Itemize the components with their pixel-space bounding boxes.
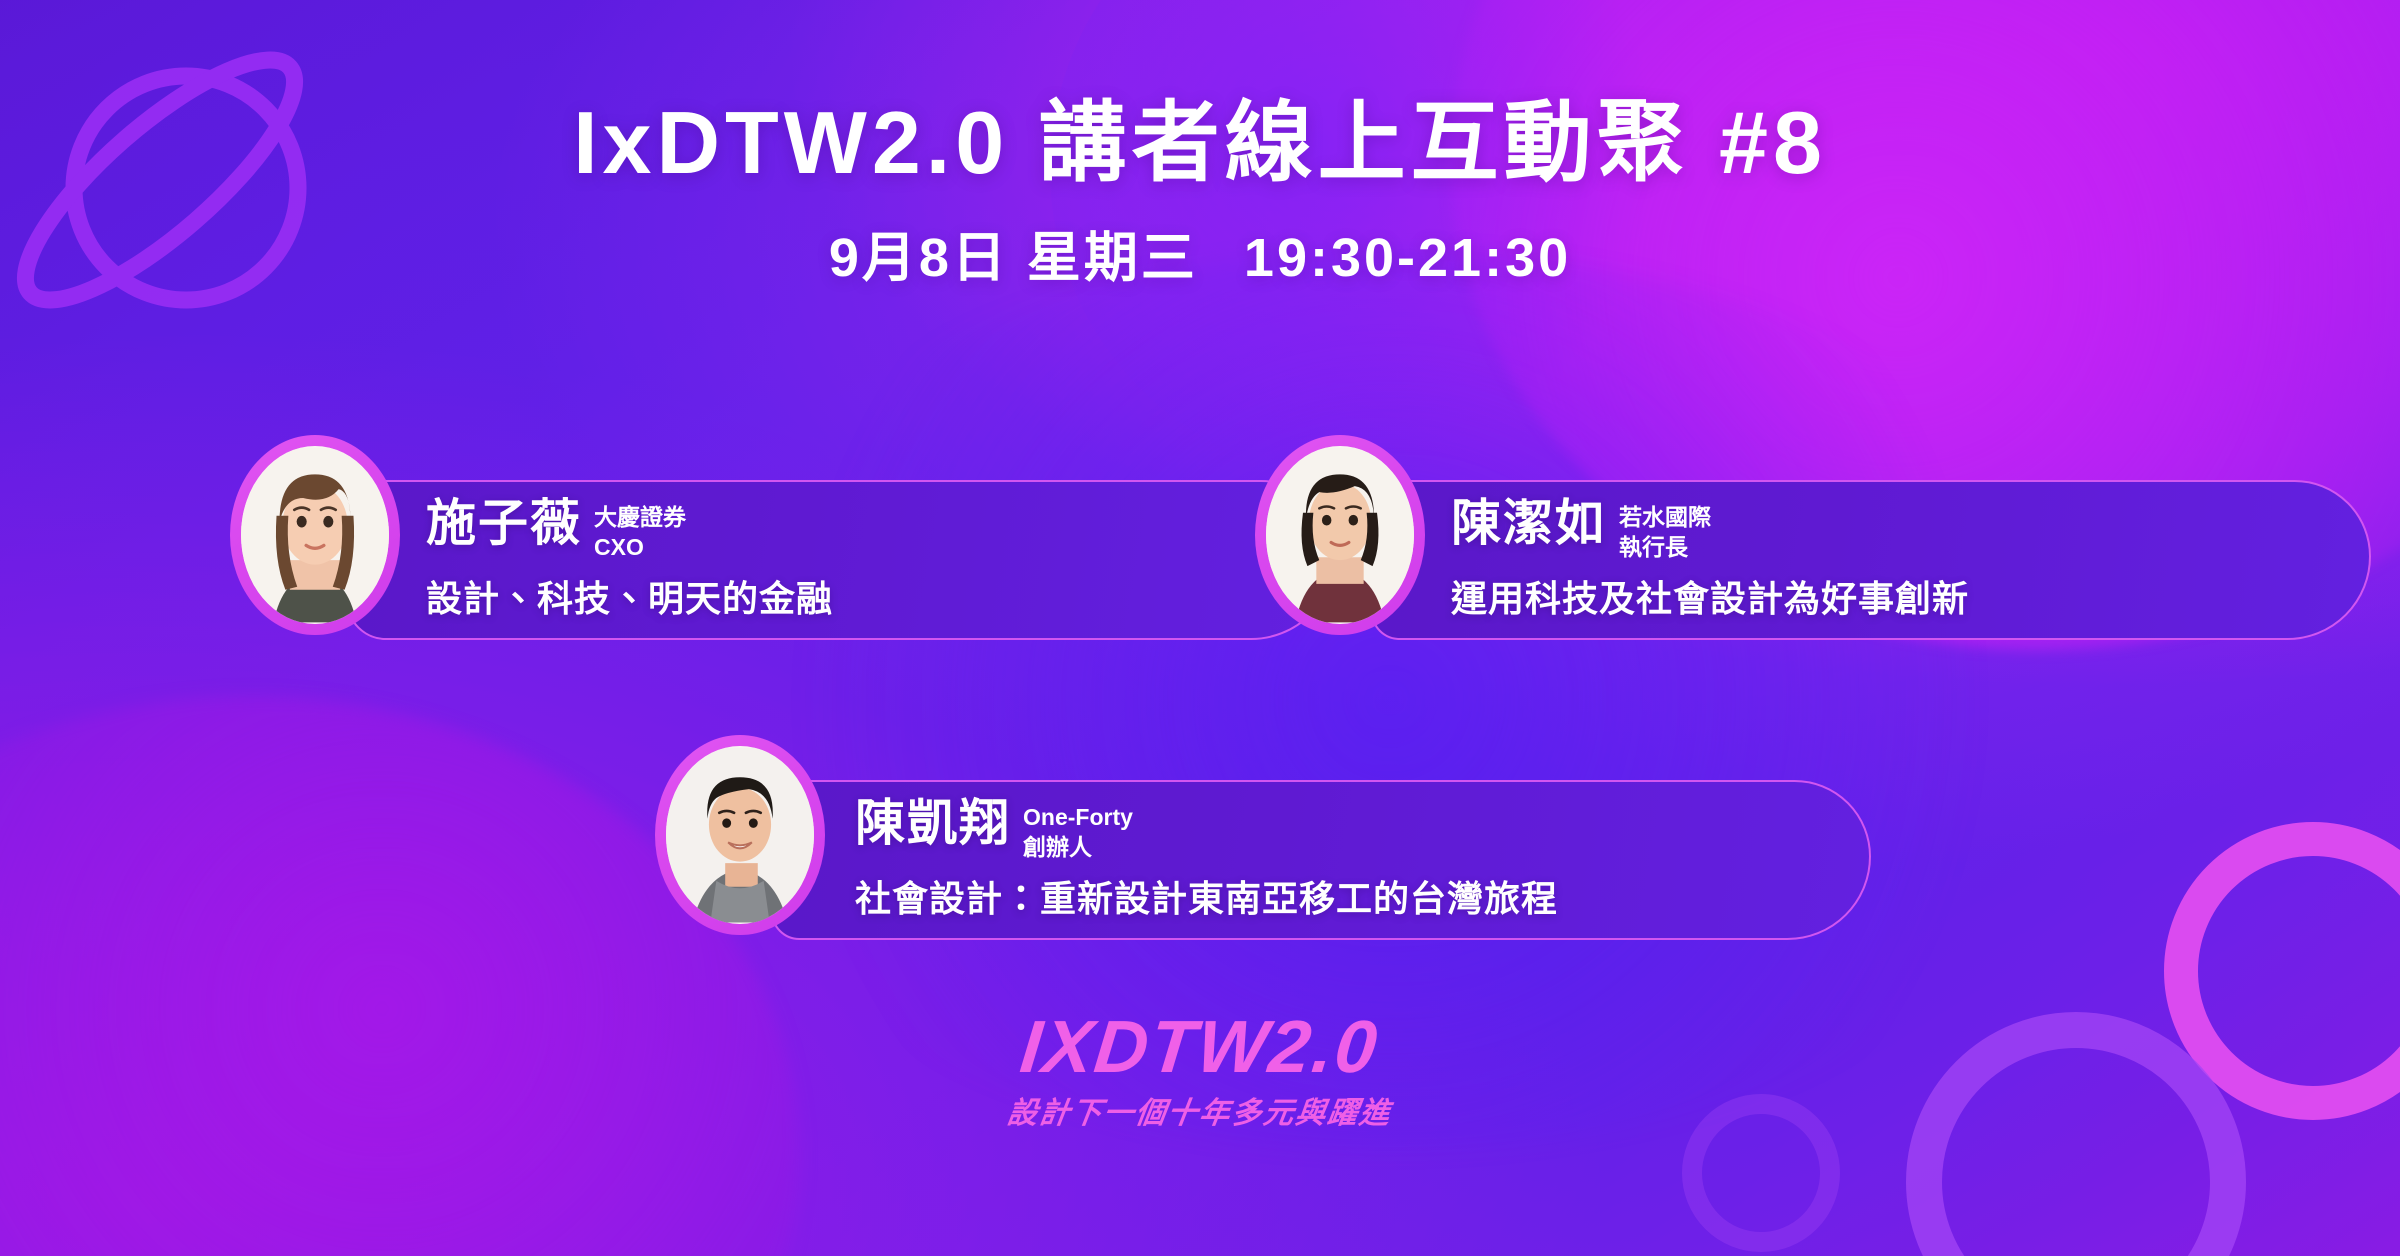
speaker-info: 陳凱翔 One-Forty 創辦人 社會設計：重新設計東南亞移工的台灣旅程 [855, 780, 1558, 940]
speaker-name-row: 陳凱翔 One-Forty 創辦人 [855, 798, 1558, 863]
event-poster: IxDTW2.0 講者線上互動聚 #8 9月8日 星期三19:30-21:30 [0, 0, 2400, 1256]
event-date: 9月8日 星期三 [829, 228, 1198, 288]
speaker-meta: 若水國際 執行長 [1619, 498, 1711, 563]
avatar-photo [666, 746, 814, 924]
avatar-photo [1266, 446, 1414, 624]
speaker-meta: One-Forty 創辦人 [1023, 798, 1133, 863]
speaker-topic: 社會設計：重新設計東南亞移工的台灣旅程 [855, 870, 1558, 922]
page-title: IxDTW2.0 講者線上互動聚 #8 [0, 96, 2400, 189]
speaker-org: 若水國際 [1619, 502, 1711, 532]
speaker-name: 施子薇 [426, 498, 582, 549]
speaker-role: CXO [594, 532, 686, 562]
header-block: IxDTW2.0 講者線上互動聚 #8 9月8日 星期三19:30-21:30 [0, 96, 2400, 292]
speaker-name-row: 施子薇 大慶證券 CXO [426, 498, 833, 563]
speaker-avatar-shih-tzu-wei [230, 435, 400, 635]
speaker-topic: 運用科技及社會設計為好事創新 [1451, 570, 1969, 622]
speaker-avatar-chen-kai-hsiang [655, 735, 825, 935]
event-datetime: 9月8日 星期三19:30-21:30 [0, 213, 2400, 292]
brand-logo: IXDTW2.0 設計下一個十年多元與躍進 [0, 1010, 2400, 1132]
speaker-name: 陳凱翔 [855, 798, 1011, 849]
speaker-role: 執行長 [1619, 532, 1711, 562]
speaker-meta: 大慶證券 CXO [594, 498, 686, 563]
speaker-avatar-chen-chieh-ju [1255, 435, 1425, 635]
speaker-org: One-Forty [1023, 802, 1133, 832]
speaker-topic: 設計、科技、明天的金融 [426, 570, 833, 622]
speaker-name-row: 陳潔如 若水國際 執行長 [1451, 498, 1969, 563]
speaker-name: 陳潔如 [1451, 498, 1607, 549]
logo-wordmark: IXDTW2.0 [1017, 1010, 1382, 1084]
event-time: 19:30-21:30 [1244, 228, 1571, 288]
speaker-info: 施子薇 大慶證券 CXO 設計、科技、明天的金融 [426, 480, 833, 640]
speaker-info: 陳潔如 若水國際 執行長 運用科技及社會設計為好事創新 [1451, 480, 1969, 640]
logo-tagline: 設計下一個十年多元與躍進 [1005, 1088, 1395, 1132]
speaker-org: 大慶證券 [594, 502, 686, 532]
avatar-photo [241, 446, 389, 624]
speaker-role: 創辦人 [1023, 832, 1133, 862]
